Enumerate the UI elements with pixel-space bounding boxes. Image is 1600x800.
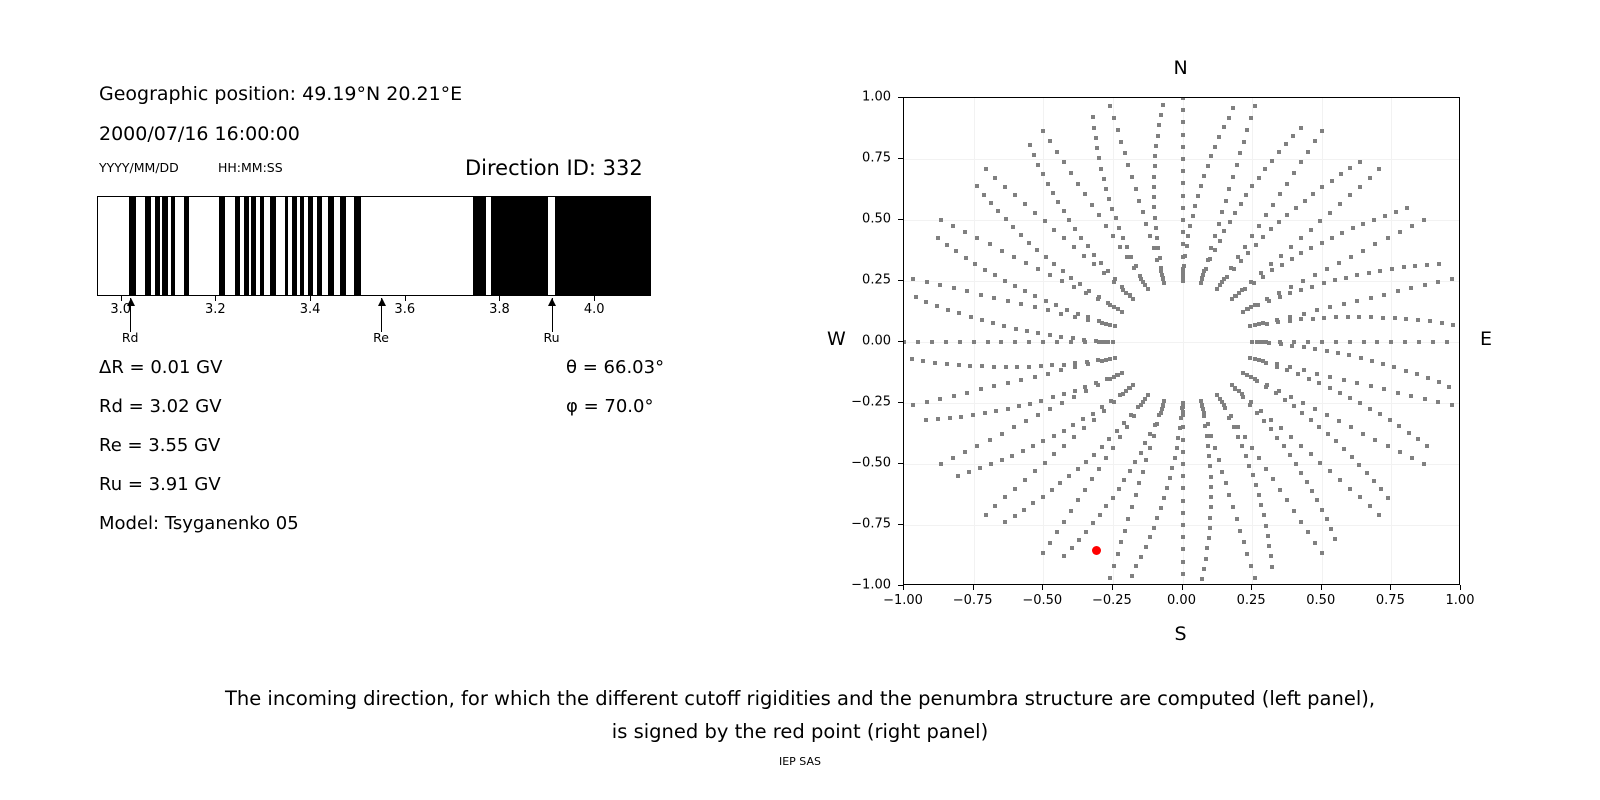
direction-point: [1225, 275, 1229, 279]
direction-point: [1397, 424, 1401, 428]
direction-point: [1152, 434, 1156, 438]
direction-point: [938, 283, 942, 287]
direction-point: [1350, 455, 1354, 459]
penumbra-allowed-band: [129, 197, 136, 295]
direction-point: [1261, 275, 1265, 279]
direction-point: [1082, 426, 1086, 430]
direction-point: [980, 364, 984, 368]
direction-point: [1027, 340, 1031, 344]
direction-point: [1251, 473, 1255, 477]
direction-point: [986, 340, 990, 344]
direction-point: [1123, 529, 1127, 533]
direction-point: [1062, 520, 1066, 524]
direction-point: [1431, 340, 1435, 344]
direction-point: [1292, 509, 1296, 513]
direction-point: [1222, 125, 1226, 129]
direction-point: [1218, 239, 1222, 243]
direction-point: [1072, 395, 1076, 399]
direction-point: [1024, 419, 1028, 423]
direction-point: [1218, 397, 1222, 401]
direction-point: [1035, 248, 1039, 252]
direction-point: [1232, 267, 1236, 271]
direction-point: [1209, 154, 1213, 158]
y-axis-tick-label: 0.75: [831, 151, 891, 166]
direction-point: [1081, 417, 1085, 421]
direction-point: [1337, 419, 1341, 423]
direction-point: [1041, 340, 1045, 344]
direction-point: [1410, 224, 1414, 228]
direction-point: [1153, 164, 1157, 168]
direction-point: [1056, 200, 1060, 204]
direction-point: [1358, 160, 1362, 164]
direction-point: [1257, 456, 1261, 460]
direction-point: [1155, 236, 1159, 240]
direction-point: [1185, 244, 1189, 248]
direction-point: [1130, 175, 1134, 179]
direction-point: [1006, 381, 1010, 385]
direction-point: [1416, 437, 1420, 441]
direction-point: [1196, 194, 1200, 198]
direction-point: [1181, 511, 1185, 515]
direction-point: [1300, 411, 1304, 415]
direction-point: [945, 243, 949, 247]
direction-point: [1041, 551, 1045, 555]
direction-point: [1165, 486, 1169, 490]
direction-point: [1249, 116, 1253, 120]
direction-point: [1107, 197, 1111, 201]
direction-point: [1059, 335, 1063, 339]
direction-point: [1209, 495, 1213, 499]
direction-point: [1129, 413, 1133, 417]
x-axis-tick-label: 0.50: [1306, 593, 1335, 608]
direction-point: [1120, 371, 1124, 375]
direction-point: [988, 438, 992, 442]
caption-line-1: The incoming direction, for which the di…: [0, 682, 1600, 715]
direction-point: [1239, 259, 1243, 263]
direction-point: [1143, 397, 1147, 401]
direction-point: [1159, 113, 1163, 117]
direction-point: [1205, 546, 1209, 550]
direction-point: [1134, 564, 1138, 568]
direction-point: [1289, 285, 1293, 289]
direction-point: [1301, 401, 1305, 405]
direction-point: [1246, 307, 1250, 311]
direction-point: [1244, 193, 1248, 197]
direction-point: [1348, 193, 1352, 197]
direction-point: [1086, 244, 1090, 248]
direction-point: [1162, 281, 1166, 285]
direction-point: [1328, 305, 1332, 309]
direction-point: [1101, 340, 1105, 344]
direction-point: [1036, 331, 1040, 335]
direction-point: [1255, 411, 1259, 415]
x-axis-tick-label: −1.00: [883, 593, 923, 608]
direction-point: [921, 359, 925, 363]
penumbra-spectrum-chart: [97, 196, 651, 296]
direction-point: [1181, 108, 1185, 112]
direction-point: [1257, 176, 1261, 180]
direction-point: [1244, 454, 1248, 458]
direction-point: [1031, 444, 1035, 448]
direction-point: [1072, 435, 1076, 439]
direction-point: [1182, 264, 1186, 268]
direction-point: [1253, 576, 1257, 580]
direction-point: [1269, 418, 1273, 422]
geographic-position-label: Geographic position: 49.19°N 20.21°E: [99, 83, 462, 105]
direction-point: [1250, 340, 1254, 344]
direction-point: [1094, 136, 1098, 140]
direction-point: [1062, 429, 1066, 433]
direction-point: [1200, 404, 1204, 408]
direction-point: [925, 400, 929, 404]
direction-point: [1313, 347, 1317, 351]
direction-point: [1206, 444, 1210, 448]
compass-label-west: W: [827, 328, 846, 350]
direction-point: [1220, 210, 1224, 214]
compass-label-north: N: [1174, 57, 1188, 79]
direction-point: [945, 362, 949, 366]
param-phi: φ = 70.0°: [566, 396, 653, 417]
direction-point: [1254, 483, 1258, 487]
x-axis-tick-label: −0.25: [1092, 593, 1132, 608]
direction-point: [1407, 431, 1411, 435]
direction-point: [1267, 341, 1271, 345]
direction-point: [1133, 460, 1137, 464]
direction-point: [979, 387, 983, 391]
footer-credit: IEP SAS: [0, 755, 1600, 768]
direction-point: [1115, 429, 1119, 433]
direction-point: [1076, 182, 1080, 186]
direction-point: [967, 470, 971, 474]
direction-point: [1299, 317, 1303, 321]
direction-point: [1181, 274, 1185, 278]
direction-point: [1048, 333, 1052, 337]
direction-point: [1445, 340, 1449, 344]
direction-point: [983, 411, 987, 415]
direction-point: [1027, 241, 1031, 245]
x-axis-tick: [1251, 585, 1252, 590]
direction-point: [1061, 269, 1065, 273]
direction-point: [1303, 199, 1307, 203]
direction-point: [1070, 546, 1074, 550]
direction-point: [1126, 163, 1130, 167]
direction-point: [1289, 245, 1293, 249]
direction-point: [1357, 315, 1361, 319]
direction-point: [1003, 185, 1007, 189]
direction-point: [1206, 164, 1210, 168]
direction-point: [1113, 324, 1117, 328]
direction-point: [1148, 432, 1152, 436]
direction-point: [1059, 368, 1063, 372]
penumbra-allowed-band: [260, 197, 264, 295]
direction-point: [1083, 385, 1087, 389]
direction-point: [1062, 363, 1066, 367]
penumbra-x-tick-label: 4.0: [584, 302, 605, 317]
direction-point: [1405, 206, 1409, 210]
direction-point: [936, 417, 940, 421]
direction-point: [1205, 434, 1209, 438]
direction-point: [1381, 316, 1385, 320]
direction-point: [971, 413, 975, 417]
direction-point: [1012, 255, 1016, 259]
direction-point: [1259, 409, 1263, 413]
direction-point: [1052, 262, 1056, 266]
direction-point: [1278, 295, 1282, 299]
direction-point: [1013, 340, 1017, 344]
penumbra-allowed-band: [473, 197, 487, 295]
direction-scatter-plot: [903, 97, 1460, 585]
direction-point: [1294, 462, 1298, 466]
direction-point: [1152, 246, 1156, 250]
direction-point: [992, 296, 996, 300]
direction-point: [1271, 477, 1275, 481]
direction-point: [1325, 267, 1329, 271]
direction-point: [1315, 498, 1319, 502]
direction-point: [1051, 395, 1055, 399]
direction-point: [1077, 538, 1081, 542]
direction-point: [1027, 365, 1031, 369]
direction-point: [1355, 381, 1359, 385]
direction-point: [1373, 438, 1377, 442]
direction-point: [1409, 286, 1413, 290]
direction-point: [975, 184, 979, 188]
direction-point: [1013, 487, 1017, 491]
direction-point: [1320, 241, 1324, 245]
direction-point: [1091, 412, 1095, 416]
direction-point: [1084, 460, 1088, 464]
direction-point: [1373, 242, 1377, 246]
direction-point: [1051, 191, 1055, 195]
direction-point: [1204, 557, 1208, 561]
direction-point: [1213, 248, 1217, 252]
direction-point: [1011, 225, 1015, 229]
direction-point: [1271, 203, 1275, 207]
direction-point: [1181, 230, 1185, 234]
direction-point: [1036, 267, 1040, 271]
direction-point: [1262, 419, 1266, 423]
direction-point: [1043, 219, 1047, 223]
direction-point: [958, 340, 962, 344]
direction-point: [1235, 517, 1239, 521]
direction-point: [1379, 487, 1383, 491]
direction-point: [1116, 128, 1120, 132]
direction-point: [1276, 320, 1280, 324]
direction-point: [992, 365, 996, 369]
y-axis-tick: [898, 463, 903, 464]
direction-point: [1039, 399, 1043, 403]
direction-point: [1326, 432, 1330, 436]
direction-point: [924, 300, 928, 304]
direction-point: [1119, 540, 1123, 544]
param-ru: Ru = 3.91 GV: [99, 474, 221, 495]
direction-point: [1121, 236, 1125, 240]
direction-point: [1440, 321, 1444, 325]
direction-point: [1267, 544, 1271, 548]
direction-point: [1059, 312, 1063, 316]
direction-point: [1134, 187, 1138, 191]
direction-point: [1239, 202, 1243, 206]
direction-point: [1436, 280, 1440, 284]
direction-point: [1181, 133, 1185, 137]
direction-point: [1209, 505, 1213, 509]
x-axis-tick: [903, 585, 904, 590]
direction-point: [993, 273, 997, 277]
direction-point: [1243, 287, 1247, 291]
direction-point: [1130, 505, 1134, 509]
penumbra-x-tick-label: 3.8: [489, 302, 510, 317]
direction-point: [935, 304, 939, 308]
direction-point: [1158, 256, 1162, 260]
direction-point: [1333, 537, 1337, 541]
direction-point: [1010, 454, 1014, 458]
y-axis-tick: [898, 524, 903, 525]
direction-point: [1301, 279, 1305, 283]
direction-point: [1144, 458, 1148, 462]
direction-point: [1092, 418, 1096, 422]
direction-point: [1000, 249, 1004, 253]
direction-point: [1021, 449, 1025, 453]
direction-point: [988, 242, 992, 246]
direction-point: [1114, 216, 1118, 220]
direction-point: [1104, 456, 1108, 460]
direction-point: [924, 418, 928, 422]
penumbra-allowed-band: [235, 197, 240, 295]
direction-point: [1369, 384, 1373, 388]
direction-point: [1137, 199, 1141, 203]
direction-point: [1181, 462, 1185, 466]
direction-point: [1279, 342, 1283, 346]
direction-point: [1137, 481, 1141, 485]
direction-point: [1033, 305, 1037, 309]
direction-point: [1292, 171, 1296, 175]
direction-point: [1058, 481, 1062, 485]
direction-point: [1141, 210, 1145, 214]
direction-point: [1048, 273, 1052, 277]
penumbra-marker-label-re: Re: [373, 330, 389, 345]
direction-point: [1315, 372, 1319, 376]
direction-point: [1299, 251, 1303, 255]
direction-point: [1112, 564, 1116, 568]
direction-point: [1340, 231, 1344, 235]
direction-point: [1378, 412, 1382, 416]
direction-point: [1306, 530, 1310, 534]
direction-point: [1161, 276, 1165, 280]
direction-point: [1104, 504, 1108, 508]
direction-point: [1118, 435, 1122, 439]
direction-point: [1092, 262, 1096, 266]
y-axis-tick: [898, 341, 903, 342]
penumbra-allowed-band: [308, 197, 313, 295]
direction-point: [1055, 530, 1059, 534]
direction-point: [1208, 464, 1212, 468]
penumbra-marker-re: [381, 298, 382, 332]
direction-point: [1372, 479, 1376, 483]
direction-point: [1339, 172, 1343, 176]
direction-point: [1148, 535, 1152, 539]
direction-point: [1156, 246, 1160, 250]
direction-point: [1013, 514, 1017, 518]
direction-point: [1110, 207, 1114, 211]
direction-point: [1388, 418, 1392, 422]
y-axis-tick: [898, 97, 903, 98]
direction-point: [1155, 516, 1159, 520]
direction-point: [1181, 157, 1185, 161]
direction-point: [1115, 373, 1119, 377]
direction-point: [1129, 255, 1133, 259]
direction-point: [1255, 379, 1259, 383]
direction-point: [1386, 496, 1390, 500]
direction-point: [1309, 246, 1313, 250]
direction-point: [1369, 296, 1373, 300]
direction-point: [1236, 425, 1240, 429]
direction-point: [1031, 501, 1035, 505]
direction-point: [1181, 194, 1185, 198]
direction-point: [1144, 222, 1148, 226]
direction-point: [1370, 359, 1374, 363]
x-axis-tick-label: 0.25: [1237, 593, 1266, 608]
direction-point: [1069, 340, 1073, 344]
penumbra-marker-label-ru: Ru: [544, 330, 560, 345]
direction-point: [1050, 363, 1054, 367]
direction-point: [1097, 467, 1101, 471]
direction-point: [1231, 175, 1235, 179]
direction-point: [1302, 345, 1306, 349]
direction-point: [1136, 405, 1140, 409]
direction-point: [1113, 277, 1117, 281]
direction-point: [1179, 416, 1183, 420]
direction-point: [1105, 340, 1109, 344]
penumbra-x-tick: [499, 296, 500, 301]
direction-point: [1122, 421, 1126, 425]
direction-point: [1266, 534, 1270, 538]
direction-point: [1131, 383, 1135, 387]
direction-point: [979, 293, 983, 297]
direction-point: [911, 277, 915, 281]
direction-point: [1108, 357, 1112, 361]
direction-point: [1013, 284, 1017, 288]
direction-point: [1122, 478, 1126, 482]
direction-point: [1181, 218, 1185, 222]
direction-point: [1207, 454, 1211, 458]
direction-point: [1071, 336, 1075, 340]
y-axis-tick: [898, 402, 903, 403]
direction-point: [1154, 144, 1158, 148]
direction-point: [992, 384, 996, 388]
direction-point: [975, 236, 979, 240]
direction-point: [1004, 217, 1008, 221]
selected-direction-point[interactable]: [1092, 546, 1101, 555]
direction-point: [1128, 293, 1132, 297]
direction-point: [1013, 193, 1017, 197]
direction-point: [1261, 235, 1265, 239]
direction-point: [1250, 446, 1254, 450]
direction-point: [1227, 187, 1231, 191]
direction-point: [1148, 446, 1152, 450]
direction-point: [1257, 493, 1261, 497]
direction-point: [1362, 340, 1366, 344]
caption-line-2: is signed by the red point (right panel): [0, 715, 1600, 748]
direction-point: [1365, 471, 1369, 475]
penumbra-allowed-band: [171, 197, 175, 295]
direction-point: [1162, 496, 1166, 500]
direction-point: [1002, 324, 1006, 328]
direction-point: [1330, 179, 1334, 183]
direction-point: [1108, 576, 1112, 580]
direction-point: [1108, 104, 1112, 108]
direction-point: [1302, 368, 1306, 372]
direction-point: [1104, 322, 1108, 326]
x-axis-tick: [973, 585, 974, 590]
